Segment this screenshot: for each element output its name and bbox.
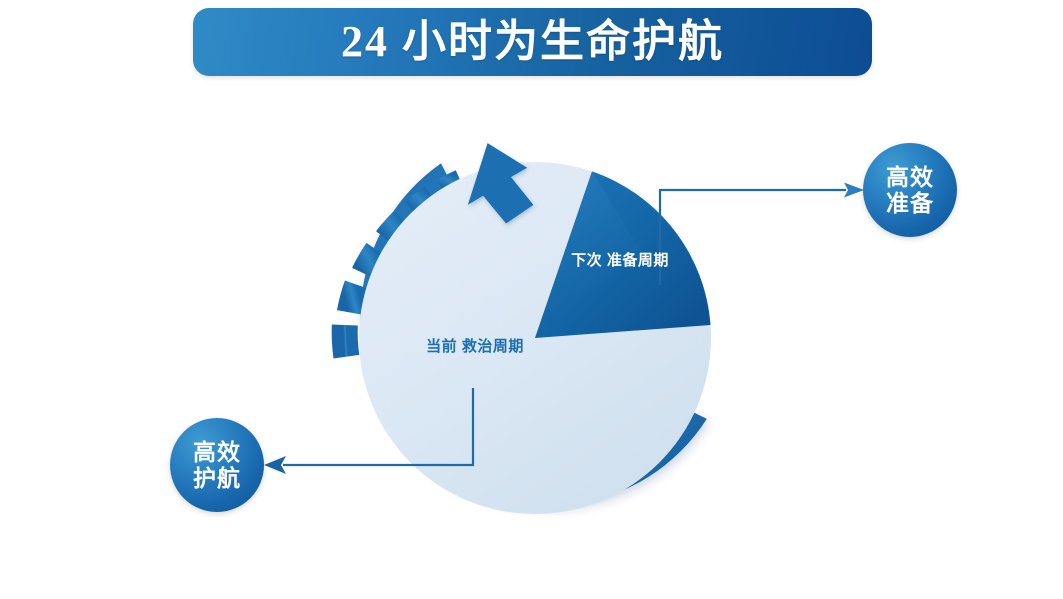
- disc-label-line2: 救治周期: [462, 338, 524, 355]
- callout-bubble-efficient-preparation[interactable]: 高效 准备: [863, 143, 957, 237]
- ring-dash-2: [349, 285, 356, 313]
- callout-left-line2: 护航: [193, 465, 241, 491]
- callout-right-line2: 准备: [886, 190, 934, 216]
- ring-dash-1: [345, 325, 347, 357]
- arrow-left-icon: [264, 456, 286, 474]
- wedge-label-line1: 下次: [571, 252, 602, 269]
- arrow-right-icon: [844, 183, 864, 198]
- callout-right-line1: 高效: [886, 164, 934, 190]
- wedge-label-line2: 准备周期: [607, 252, 669, 269]
- cycle-diagram: [0, 0, 1063, 599]
- disc-label-current-cycle: 当前 救治周期: [410, 336, 540, 358]
- wedge-label-next-cycle: 下次 准备周期: [560, 250, 680, 272]
- disc-label-line1: 当前: [426, 338, 457, 355]
- slide-canvas: 24 小时为生命护航: [0, 0, 1063, 599]
- callout-left-line1: 高效: [193, 439, 241, 465]
- callout-bubble-efficient-escort[interactable]: 高效 护航: [170, 418, 264, 512]
